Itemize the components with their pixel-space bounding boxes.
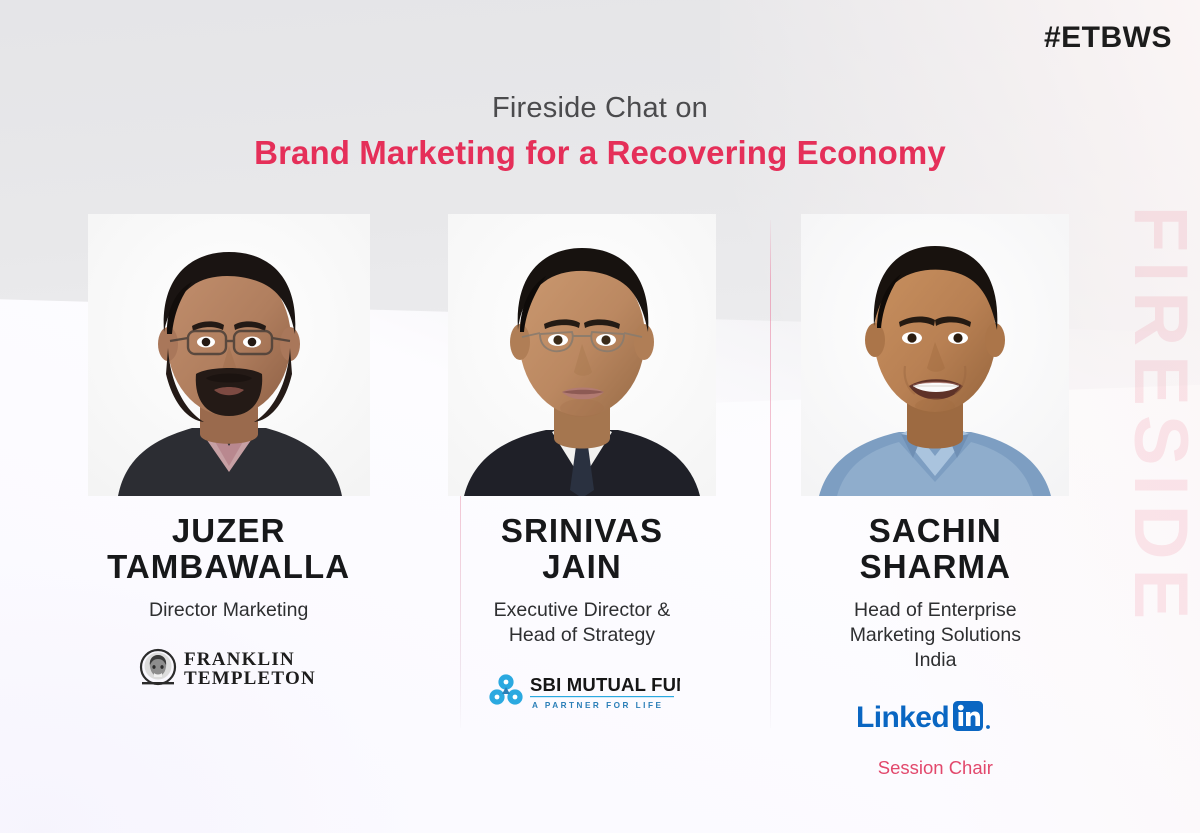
event-hashtag: #ETBWS [1044, 21, 1172, 55]
speaker-name-1-line2: TAMBAWALLA [107, 549, 350, 585]
speaker-name-3-line2: SHARMA [860, 549, 1011, 585]
speaker-role-2-line1: Executive Director & [494, 598, 671, 623]
speaker-photo-3 [801, 214, 1069, 496]
speaker-role-1: Director Marketing [149, 598, 308, 623]
linkedin-logo: Linked [854, 695, 1016, 741]
speaker-card-2: SRINIVAS JAIN Executive Director & Head … [405, 214, 758, 716]
speaker-name-2-line2: JAIN [501, 549, 663, 585]
speaker-name-2-line1: SRINIVAS [501, 513, 663, 549]
speaker-role-3-line2: Marketing Solutions [850, 623, 1021, 648]
speaker-photo-2 [448, 214, 716, 496]
speaker-name-3-line1: SACHIN [860, 513, 1011, 549]
page-title: Brand Marketing for a Recovering Economy [0, 134, 1200, 172]
ft-line1: FRANKLIN [184, 649, 295, 670]
sbi-wordmark: SBI MUTUAL FUND [530, 674, 680, 695]
speaker-role-1-line1: Director Marketing [149, 598, 308, 623]
speaker-name-1-line1: JUZER [107, 513, 350, 549]
speaker-card-3: SACHIN SHARMA Head of Enterprise Marketi… [759, 214, 1112, 779]
speaker-role-2: Executive Director & Head of Strategy [494, 598, 671, 648]
header-block: Fireside Chat on Brand Marketing for a R… [0, 92, 1200, 172]
speaker-name-1: JUZER TAMBAWALLA [107, 513, 350, 584]
speaker-role-3-line3: India [850, 648, 1021, 673]
event-promo-card: FIRESIDE #ETBWS Fireside Chat on Brand M… [0, 0, 1200, 833]
speaker-name-2: SRINIVAS JAIN [501, 513, 663, 584]
speaker-role-3-line1: Head of Enterprise [850, 598, 1021, 623]
speaker-photo-1 [88, 214, 370, 496]
sbi-mutual-fund-logo: SBI MUTUAL FUND A PARTNER FOR LIFE [484, 670, 680, 716]
speaker-role-3: Head of Enterprise Marketing Solutions I… [850, 598, 1021, 673]
linkedin-wordmark: Linked [856, 701, 949, 734]
sbi-tagline: A PARTNER FOR LIFE [532, 701, 663, 710]
speakers-row: JUZER TAMBAWALLA Director Marketing [52, 214, 1112, 779]
sbi-trefoil-icon [489, 675, 522, 705]
speaker-card-1: JUZER TAMBAWALLA Director Marketing [52, 214, 405, 691]
session-chair-label: Session Chair [878, 757, 993, 779]
ft-line2: TEMPLETON [184, 668, 316, 689]
header-kicker: Fireside Chat on [0, 92, 1200, 125]
franklin-templeton-logo: FRANKLIN TEMPLETON [134, 645, 324, 691]
speaker-name-3: SACHIN SHARMA [860, 513, 1011, 584]
speaker-role-2-line2: Head of Strategy [494, 623, 671, 648]
